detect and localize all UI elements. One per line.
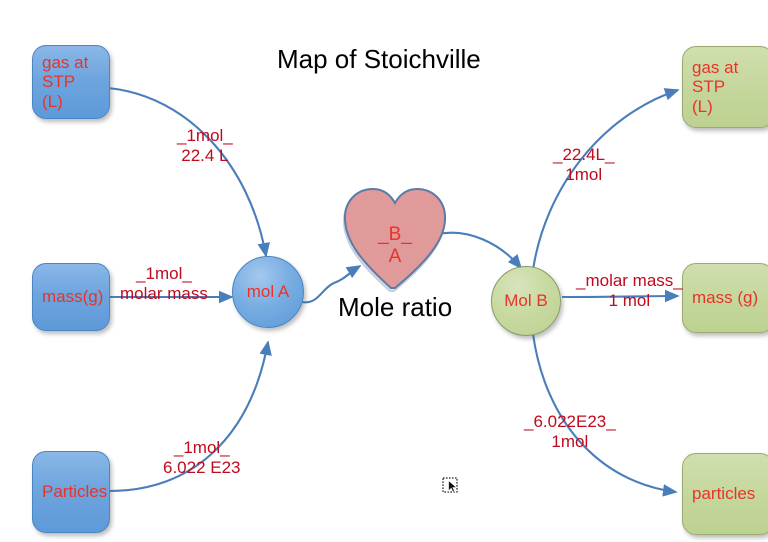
edge-label-denominator: 22.4 L (177, 146, 233, 166)
node-mol-a[interactable]: mol A (232, 256, 304, 328)
page-title: Map of Stoichville (277, 44, 481, 75)
edge-label-mol-b-to-gas: _22.4L_ 1mol (553, 145, 614, 184)
node-gas-at-stp-right-text: gas at STP (L) (692, 58, 768, 117)
mole-ratio-caption: Mole ratio (338, 294, 452, 320)
edge-label-mol-b-to-particles: _6.022E23_ 1mol (524, 412, 616, 451)
node-gas-at-stp-right[interactable]: gas at STP (L) (682, 46, 768, 128)
heart-numerator: _B_ (365, 224, 425, 246)
node-label-line1: gas at STP (42, 53, 109, 92)
edge-label-numerator: _1mol_ (177, 126, 233, 146)
node-gas-at-stp-left[interactable]: gas at STP (L) (32, 45, 110, 119)
node-mass-g-left-label: mass(g) (42, 287, 103, 307)
edge-label-mass-to-mol-a: _1mol_ molar mass (120, 264, 208, 303)
edge-label-denominator: 1 mol (576, 291, 683, 311)
heart-denominator: A (365, 246, 425, 268)
node-mass-g-right-label: mass (g) (692, 288, 758, 308)
node-particles-right[interactable]: particles (682, 453, 768, 535)
edge-label-denominator: 1mol (524, 432, 616, 452)
node-mol-b-label: Mol B (504, 291, 547, 311)
node-mol-b[interactable]: Mol B (491, 266, 561, 336)
node-mass-g-left[interactable]: mass(g) (32, 263, 110, 331)
edge-label-numerator: _molar mass_ (576, 271, 683, 291)
node-label-line2: (L) (42, 92, 109, 112)
edge-gas-to-mol-a (108, 88, 266, 256)
edge-label-numerator: _6.022E23_ (524, 412, 616, 432)
edge-label-numerator: _1mol_ (120, 264, 208, 284)
edge-label-particles-to-mol-a: _1mol_ 6.022 E23 (163, 438, 241, 477)
edge-label-numerator: _22.4L_ (553, 145, 614, 165)
node-particles-left-label: Particles (42, 482, 107, 502)
node-gas-at-stp-left-text: gas at STP (L) (42, 53, 109, 112)
node-label-line1: gas at STP (692, 58, 768, 97)
diagram-canvas: Map of Stoichville gas at STP (L) mass(g… (0, 0, 768, 542)
selection-arrow-cursor (441, 476, 465, 500)
edge-label-gas-to-mol-a: _1mol_ 22.4 L (177, 126, 233, 165)
node-mass-g-right[interactable]: mass (g) (682, 263, 768, 333)
edge-label-mol-b-to-mass: _molar mass_ 1 mol (576, 271, 683, 310)
edge-label-denominator: 6.022 E23 (163, 458, 241, 478)
node-particles-left[interactable]: Particles (32, 451, 110, 533)
node-mol-a-label: mol A (247, 282, 290, 302)
heart-ratio-text: _B_ A (365, 224, 425, 268)
edge-label-denominator: 1mol (553, 165, 614, 185)
edge-heart-to-mol-b (438, 233, 521, 268)
node-particles-right-label: particles (692, 484, 755, 504)
edge-label-denominator: molar mass (120, 284, 208, 304)
edge-label-numerator: _1mol_ (163, 438, 241, 458)
node-label-line2: (L) (692, 97, 768, 117)
